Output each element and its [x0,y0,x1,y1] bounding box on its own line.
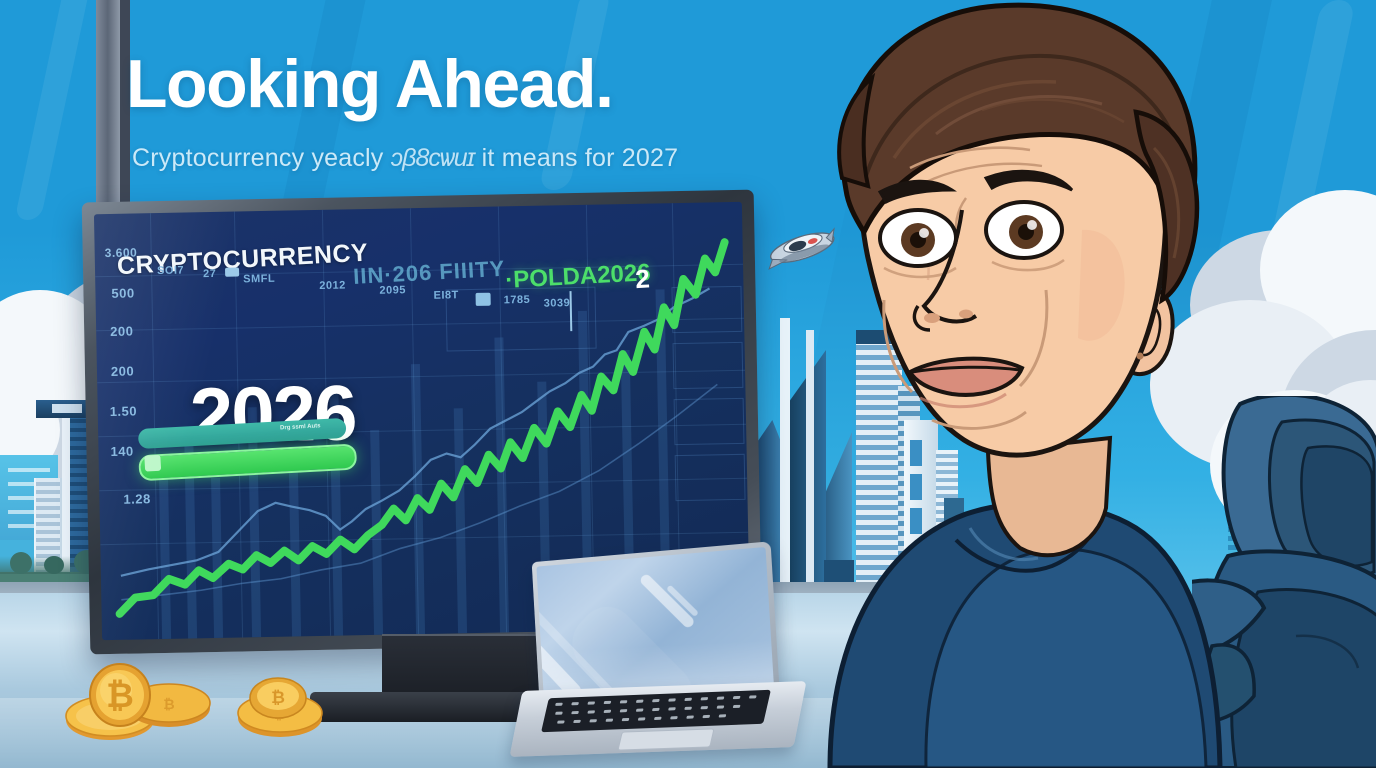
laptop-screen[interactable] [536,547,774,696]
bitcoin-coin-standing: ₿ [88,662,152,728]
laptop-lid [532,541,780,702]
poster-scene: CRYPTOCURRENCY IIN·206 FIIITY ·POLDA2026… [0,0,1376,768]
laptop-trackpad[interactable] [617,728,714,750]
subtitle-part-1: Cryptocurrency yeacly [132,144,391,172]
page-title: Looking Ahead. [126,50,612,118]
svg-text:₿: ₿ [106,677,134,715]
laptop[interactable] [512,552,808,768]
svg-text:₿: ₿ [271,688,285,707]
person-character [806,0,1236,768]
page-subtitle: Cryptocurrency yeacly ɔβ8cѡuɪ it means f… [132,144,678,173]
subtitle-garbled-text: ɔβ8cѡuɪ [391,144,475,172]
svg-text:₿: ₿ [163,696,174,712]
subtitle-part-2: it means for 2027 [475,144,679,172]
bitcoin-coin-small: ₿ [248,672,308,720]
